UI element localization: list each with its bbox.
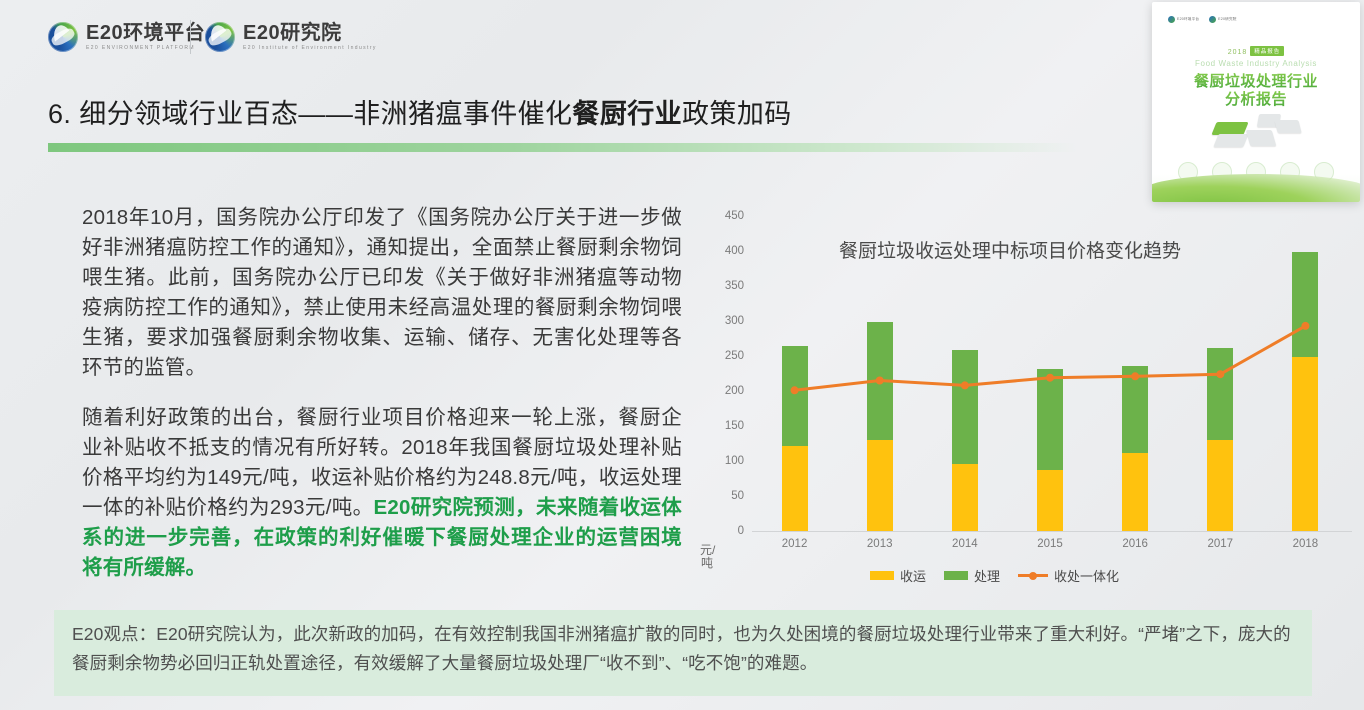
cover-pie-slice-4 bbox=[1274, 120, 1301, 133]
body-paragraph-2: 随着利好政策的出台，餐厨行业项目价格迎来一轮上涨，餐厨企业补贴收不抵支的情况有所… bbox=[82, 403, 682, 583]
chart-legend-item[interactable]: 收运 bbox=[870, 566, 926, 585]
chart-y-tick: 400 bbox=[725, 245, 744, 257]
cover-logo-1: E20环境平台 bbox=[1168, 16, 1199, 23]
cover-badge: 精品报告 bbox=[1250, 46, 1284, 56]
cover-chinese-title-line2: 分析报告 bbox=[1152, 88, 1360, 109]
chart-panel: 餐厨垃圾收运处理中标项目价格变化趋势 元/吨 05010015020025030… bbox=[700, 196, 1360, 596]
cover-hill-graphic bbox=[1152, 174, 1360, 202]
chart-x-label-2013: 2013 bbox=[867, 538, 893, 550]
cover-year-row: 2018精品报告 bbox=[1152, 46, 1360, 56]
chart-y-tick: 150 bbox=[725, 420, 744, 432]
cover-year: 2018 bbox=[1228, 49, 1248, 56]
logo-e20-institute: E20研究院 E20 Institute of Environment Indu… bbox=[205, 22, 377, 52]
cover-logo-1-icon bbox=[1168, 16, 1175, 23]
chart-line-point bbox=[876, 377, 884, 385]
chart-plot-area: 050100150200250300350400450 201220132014… bbox=[752, 216, 1348, 531]
chart-line-point bbox=[791, 386, 799, 394]
chart-y-tick: 450 bbox=[725, 210, 744, 222]
chart-x-label-2018: 2018 bbox=[1293, 538, 1319, 550]
chart-y-tick: 350 bbox=[725, 280, 744, 292]
chart-line-point bbox=[961, 381, 969, 389]
chart-y-tick: 200 bbox=[725, 385, 744, 397]
cover-logo-2-icon bbox=[1209, 16, 1216, 23]
chart-line-point bbox=[1131, 372, 1139, 380]
chart-legend-label: 收处一体化 bbox=[1054, 566, 1119, 585]
chart-y-axis-label: 元/吨 bbox=[700, 544, 714, 570]
cover-pie-illustration bbox=[1212, 110, 1304, 154]
chart-x-axis-line bbox=[752, 531, 1352, 532]
page-title-highlight: 餐厨行业 bbox=[572, 99, 682, 129]
e20-swirl-logo-icon-2 bbox=[205, 22, 235, 52]
callout-text: E20观点：E20研究院认为，此次新政的加码，在有效控制我国非洲猪瘟扩散的同时，… bbox=[72, 620, 1294, 678]
chart-x-label-2012: 2012 bbox=[782, 538, 808, 550]
chart-legend-item[interactable]: 处理 bbox=[944, 566, 1000, 585]
chart-legend: 收运处理收处一体化 bbox=[870, 566, 1119, 585]
chart-legend-item[interactable]: 收处一体化 bbox=[1018, 566, 1119, 585]
chart-line-point bbox=[1046, 374, 1054, 382]
chart-y-tick: 50 bbox=[731, 490, 744, 502]
cover-logo-2-label: E20研究院 bbox=[1218, 17, 1236, 22]
cover-logo-1-label: E20环境平台 bbox=[1177, 17, 1199, 22]
body-text: 2018年10月，国务院办公厅印发了《国务院办公厅关于进一步做好非洲猪瘟防控工作… bbox=[82, 203, 682, 583]
logo-e20-environment-platform: E20环境平台 E20 ENVIRONMENT PLATFORM bbox=[48, 22, 205, 52]
e20-swirl-logo-icon bbox=[48, 22, 78, 52]
chart-y-tick: 300 bbox=[725, 315, 744, 327]
logo-right-subtitle: E20 Institute of Environment Industry bbox=[243, 46, 377, 51]
page-title: 6. 细分领域行业百态——非洲猪瘟事件催化餐厨行业政策加码 bbox=[48, 92, 1138, 131]
chart-line-series bbox=[752, 216, 1348, 531]
chart-legend-label: 处理 bbox=[974, 566, 1000, 585]
page-title-suffix: 政策加码 bbox=[682, 99, 792, 129]
logo-left-subtitle: E20 ENVIRONMENT PLATFORM bbox=[86, 46, 205, 51]
page-title-prefix: 6. 细分领域行业百态——非洲猪瘟事件催化 bbox=[48, 99, 572, 129]
chart-legend-label: 收运 bbox=[900, 566, 926, 585]
legend-swatch-icon bbox=[870, 571, 894, 580]
legend-line-marker-icon bbox=[1018, 570, 1048, 581]
report-cover-thumbnail: E20环境平台 E20研究院 2018精品报告 Food Waste Indus… bbox=[1152, 2, 1360, 202]
legend-swatch-icon bbox=[944, 571, 968, 580]
cover-logos: E20环境平台 E20研究院 bbox=[1168, 16, 1237, 23]
cover-pie-slice-1 bbox=[1213, 134, 1248, 147]
chart-x-label-2014: 2014 bbox=[952, 538, 978, 550]
chart-x-label-2016: 2016 bbox=[1122, 538, 1148, 550]
chart-line-point bbox=[1301, 322, 1309, 330]
cover-logo-2: E20研究院 bbox=[1209, 16, 1236, 23]
title-block: 6. 细分领域行业百态——非洲猪瘟事件催化餐厨行业政策加码 bbox=[48, 92, 1138, 152]
title-underline bbox=[48, 143, 1078, 152]
chart-y-tick: 0 bbox=[738, 525, 744, 537]
logo-left-name: E20环境平台 bbox=[86, 23, 205, 43]
chart-y-tick: 100 bbox=[725, 455, 744, 467]
logo-right-name: E20研究院 bbox=[243, 23, 377, 43]
chart-x-label-2017: 2017 bbox=[1207, 538, 1233, 550]
cover-pie-slice-2 bbox=[1246, 130, 1277, 146]
chart-y-tick: 250 bbox=[725, 350, 744, 362]
logo-divider bbox=[190, 20, 191, 54]
chart-line-point bbox=[1216, 370, 1224, 378]
callout-box: E20观点：E20研究院认为，此次新政的加码，在有效控制我国非洲猪瘟扩散的同时，… bbox=[54, 610, 1312, 696]
cover-english-title: Food Waste Industry Analysis bbox=[1152, 59, 1360, 68]
chart-x-label-2015: 2015 bbox=[1037, 538, 1063, 550]
body-paragraph-1: 2018年10月，国务院办公厅印发了《国务院办公厅关于进一步做好非洲猪瘟防控工作… bbox=[82, 203, 682, 383]
